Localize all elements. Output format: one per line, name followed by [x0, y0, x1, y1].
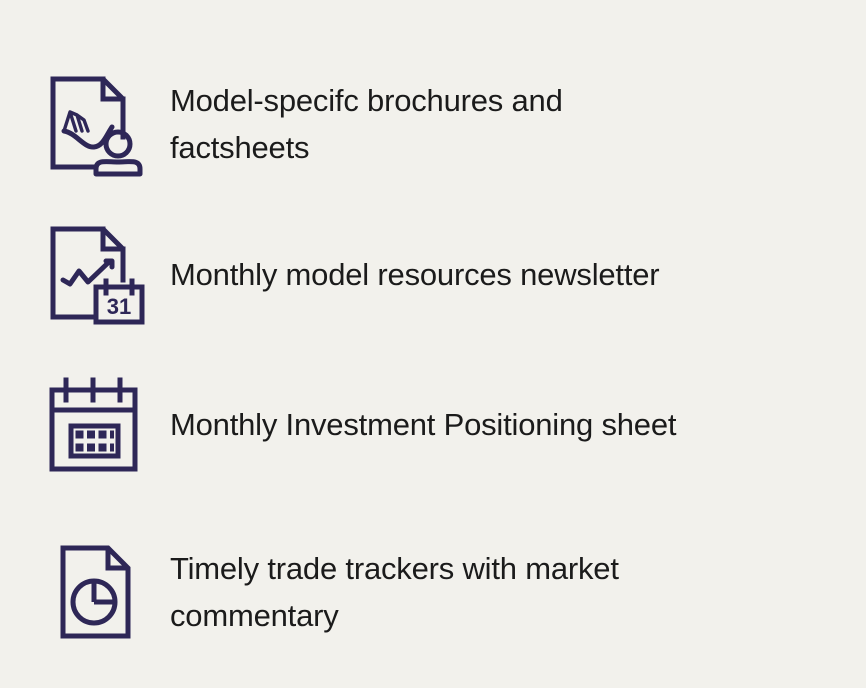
- list-item: 31 Monthly model resources newsletter: [40, 224, 850, 324]
- list-item: Monthly Investment Positioning sheet: [40, 376, 850, 472]
- list-item-label: Monthly Investment Positioning sheet: [150, 401, 850, 448]
- list-item-label: Monthly model resources newsletter: [150, 251, 850, 298]
- document-linechart-calendar-icon: 31: [40, 224, 150, 324]
- document-chart-person-icon: [40, 74, 150, 174]
- list-item: Timely trade trackers with market commen…: [40, 540, 850, 644]
- calendar-day-number: 31: [107, 294, 131, 319]
- feature-list: Model-specifc brochures and factsheets 3…: [0, 0, 866, 688]
- list-item-label: Model-specifc brochures and factsheets: [150, 77, 850, 171]
- list-item: Model-specifc brochures and factsheets: [40, 70, 850, 178]
- document-piechart-icon: [40, 542, 150, 642]
- calendar-grid-icon: [40, 374, 150, 474]
- list-item-label: Timely trade trackers with market commen…: [150, 545, 850, 639]
